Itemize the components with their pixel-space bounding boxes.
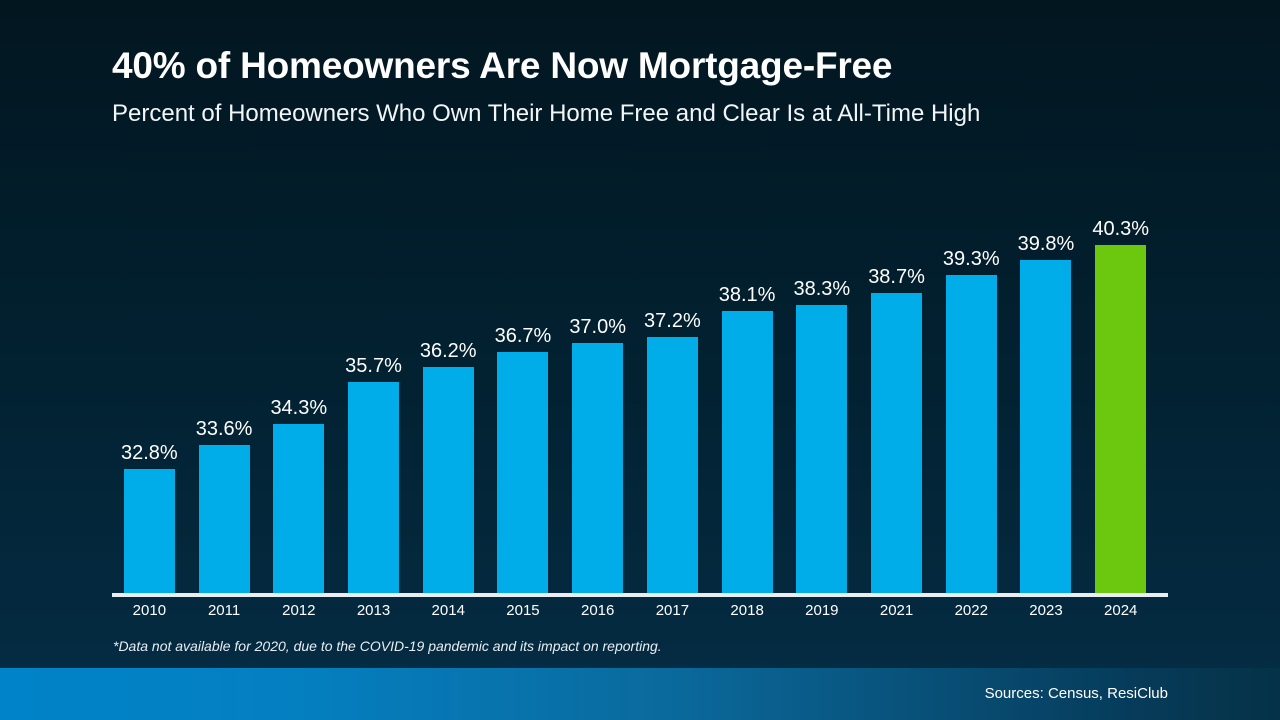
- bar-value-label: 34.3%: [270, 397, 327, 419]
- bar-rect: [796, 305, 847, 597]
- x-axis-label-2010: 2010: [112, 601, 187, 621]
- bar-rect: [1020, 260, 1071, 597]
- x-axis-label-2022: 2022: [934, 601, 1009, 621]
- x-axis-line: [112, 593, 1168, 597]
- bar-rect: [423, 367, 474, 597]
- bar-value-label: 38.7%: [868, 266, 925, 288]
- bar-rect: [946, 275, 997, 597]
- bar-2014[interactable]: 36.2%: [411, 175, 486, 597]
- bar-2016[interactable]: 37.0%: [560, 175, 635, 597]
- bar-rect: [647, 337, 698, 597]
- x-axis-label-2012: 2012: [261, 601, 336, 621]
- x-axis-label-2024: 2024: [1083, 601, 1158, 621]
- bar-chart-plot-area: 32.8%33.6%34.3%35.7%36.2%36.7%37.0%37.2%…: [112, 175, 1172, 597]
- x-axis-label-2013: 2013: [336, 601, 411, 621]
- bar-2015[interactable]: 36.7%: [486, 175, 561, 597]
- bar-rect: [497, 352, 548, 597]
- bar-rect: [124, 469, 175, 597]
- x-axis-label-2019: 2019: [784, 601, 859, 621]
- x-axis-label-2015: 2015: [486, 601, 561, 621]
- footer-bar: Sources: Census, ResiClub: [0, 668, 1280, 720]
- bar-2022[interactable]: 39.3%: [934, 175, 1009, 597]
- bar-rect: [871, 293, 922, 597]
- x-axis-label-2017: 2017: [635, 601, 710, 621]
- bar-value-label: 38.3%: [793, 278, 850, 300]
- bar-value-label: 33.6%: [196, 418, 253, 440]
- x-axis-label-2014: 2014: [411, 601, 486, 621]
- bar-rect: [348, 382, 399, 597]
- x-axis-label-2023: 2023: [1009, 601, 1084, 621]
- bar-value-label: 39.3%: [943, 248, 1000, 270]
- chart-subtitle: Percent of Homeowners Who Own Their Home…: [112, 99, 1212, 129]
- chart-header: 40% of Homeowners Are Now Mortgage-Free …: [112, 44, 1212, 129]
- x-axis-labels: 2010201120122013201420152016201720182019…: [112, 601, 1158, 621]
- bar-value-label: 39.8%: [1018, 233, 1075, 255]
- bar-2010[interactable]: 32.8%: [112, 175, 187, 597]
- bar-2023[interactable]: 39.8%: [1009, 175, 1084, 597]
- x-axis-label-2018: 2018: [710, 601, 785, 621]
- bar-rect: [572, 343, 623, 597]
- x-axis-label-2011: 2011: [187, 601, 262, 621]
- bar-rect: [722, 311, 773, 598]
- bar-2013[interactable]: 35.7%: [336, 175, 411, 597]
- chart-footnote: *Data not available for 2020, due to the…: [113, 637, 662, 655]
- bar-rect: [199, 445, 250, 597]
- bar-2012[interactable]: 34.3%: [261, 175, 336, 597]
- x-axis-label-2016: 2016: [560, 601, 635, 621]
- bar-2011[interactable]: 33.6%: [187, 175, 262, 597]
- bar-2021[interactable]: 38.7%: [859, 175, 934, 597]
- bar-rect: [1095, 245, 1146, 597]
- bar-value-label: 37.2%: [644, 310, 701, 332]
- bar-2018[interactable]: 38.1%: [710, 175, 785, 597]
- bar-value-label: 36.2%: [420, 340, 477, 362]
- bar-series: 32.8%33.6%34.3%35.7%36.2%36.7%37.0%37.2%…: [112, 175, 1158, 597]
- sources-label: Sources: Census, ResiClub: [985, 684, 1168, 704]
- bar-rect: [273, 424, 324, 597]
- bar-value-label: 40.3%: [1092, 218, 1149, 240]
- bar-value-label: 37.0%: [569, 316, 626, 338]
- bar-value-label: 38.1%: [719, 284, 776, 306]
- page-title: 40% of Homeowners Are Now Mortgage-Free: [112, 44, 1212, 88]
- bar-value-label: 36.7%: [495, 325, 552, 347]
- bar-2024[interactable]: 40.3%: [1083, 175, 1158, 597]
- bar-2019[interactable]: 38.3%: [784, 175, 859, 597]
- x-axis-label-2021: 2021: [859, 601, 934, 621]
- bar-value-label: 35.7%: [345, 355, 402, 377]
- bar-2017[interactable]: 37.2%: [635, 175, 710, 597]
- bar-value-label: 32.8%: [121, 442, 178, 464]
